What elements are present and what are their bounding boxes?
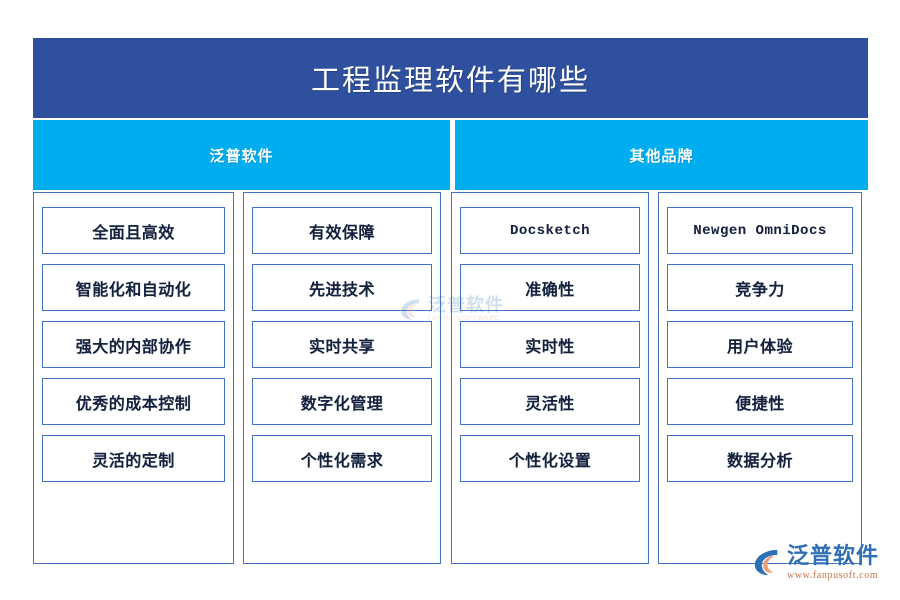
list-item[interactable]: 数字化管理	[252, 378, 432, 425]
column-other-1: Docsketch 准确性 实时性 灵活性 个性化设置	[451, 192, 649, 564]
list-item[interactable]: 强大的内部协作	[42, 321, 225, 368]
list-item[interactable]: 竞争力	[667, 264, 853, 311]
fanpu-logo-icon	[752, 547, 782, 577]
list-item[interactable]: 先进技术	[252, 264, 432, 311]
list-item[interactable]: 数据分析	[667, 435, 853, 482]
list-item[interactable]: 有效保障	[252, 207, 432, 254]
list-item[interactable]: 优秀的成本控制	[42, 378, 225, 425]
group-header-fanpu: 泛普软件	[33, 120, 450, 190]
column-gap	[649, 192, 658, 564]
logo-brand: 泛普软件	[787, 545, 879, 567]
column-gap	[441, 192, 451, 564]
item-label: 数字化管理	[301, 390, 384, 414]
list-item[interactable]: 灵活性	[460, 378, 640, 425]
item-label: 用户体验	[727, 333, 793, 357]
brand-logo: 泛普软件 www.fanpusoft.com	[752, 545, 879, 581]
list-item[interactable]: 个性化需求	[252, 435, 432, 482]
item-label: 实时性	[525, 333, 575, 357]
item-label: 个性化设置	[509, 447, 592, 471]
list-item[interactable]: 用户体验	[667, 321, 853, 368]
item-label: 竞争力	[735, 276, 785, 300]
list-item[interactable]: 灵活的定制	[42, 435, 225, 482]
list-item[interactable]: Docsketch	[460, 207, 640, 254]
list-item[interactable]: 个性化设置	[460, 435, 640, 482]
column-gap	[234, 192, 243, 564]
item-label: Docsketch	[510, 223, 590, 239]
column-other-2: Newgen OmniDocs 竞争力 用户体验 便捷性 数据分析	[658, 192, 862, 564]
page-title: 工程监理软件有哪些	[311, 57, 590, 99]
infographic-root: 工程监理软件有哪些 泛普软件 其他品牌 全面且高效 智能化和自动化 强大的内部协…	[33, 38, 868, 564]
group-header-others: 其他品牌	[455, 120, 868, 190]
title-bar: 工程监理软件有哪些	[33, 38, 868, 118]
item-label: 个性化需求	[301, 447, 384, 471]
list-item[interactable]: Newgen OmniDocs	[667, 207, 853, 254]
list-item[interactable]: 准确性	[460, 264, 640, 311]
item-label: 全面且高效	[92, 219, 175, 243]
item-label: 灵活性	[525, 390, 575, 414]
item-label: 实时共享	[309, 333, 375, 357]
group-header-label: 泛普软件	[209, 145, 273, 166]
item-label: Newgen OmniDocs	[693, 223, 827, 239]
item-label: 先进技术	[309, 276, 375, 300]
logo-url: www.fanpusoft.com	[787, 570, 879, 581]
item-label: 智能化和自动化	[76, 276, 192, 300]
list-item[interactable]: 全面且高效	[42, 207, 225, 254]
columns-row: 全面且高效 智能化和自动化 强大的内部协作 优秀的成本控制 灵活的定制 有效保障…	[33, 192, 868, 564]
list-item[interactable]: 实时共享	[252, 321, 432, 368]
group-header-row: 泛普软件 其他品牌	[33, 120, 868, 190]
list-item[interactable]: 便捷性	[667, 378, 853, 425]
item-label: 强大的内部协作	[76, 333, 192, 357]
brand-logo-text: 泛普软件 www.fanpusoft.com	[787, 545, 879, 581]
item-label: 准确性	[525, 276, 575, 300]
item-label: 数据分析	[727, 447, 793, 471]
list-item[interactable]: 实时性	[460, 321, 640, 368]
column-fanpu-2: 有效保障 先进技术 实时共享 数字化管理 个性化需求	[243, 192, 441, 564]
group-header-label: 其他品牌	[629, 145, 693, 166]
item-label: 优秀的成本控制	[76, 390, 192, 414]
list-item[interactable]: 智能化和自动化	[42, 264, 225, 311]
item-label: 便捷性	[735, 390, 785, 414]
column-fanpu-1: 全面且高效 智能化和自动化 强大的内部协作 优秀的成本控制 灵活的定制	[33, 192, 234, 564]
item-label: 灵活的定制	[92, 447, 175, 471]
item-label: 有效保障	[309, 219, 375, 243]
